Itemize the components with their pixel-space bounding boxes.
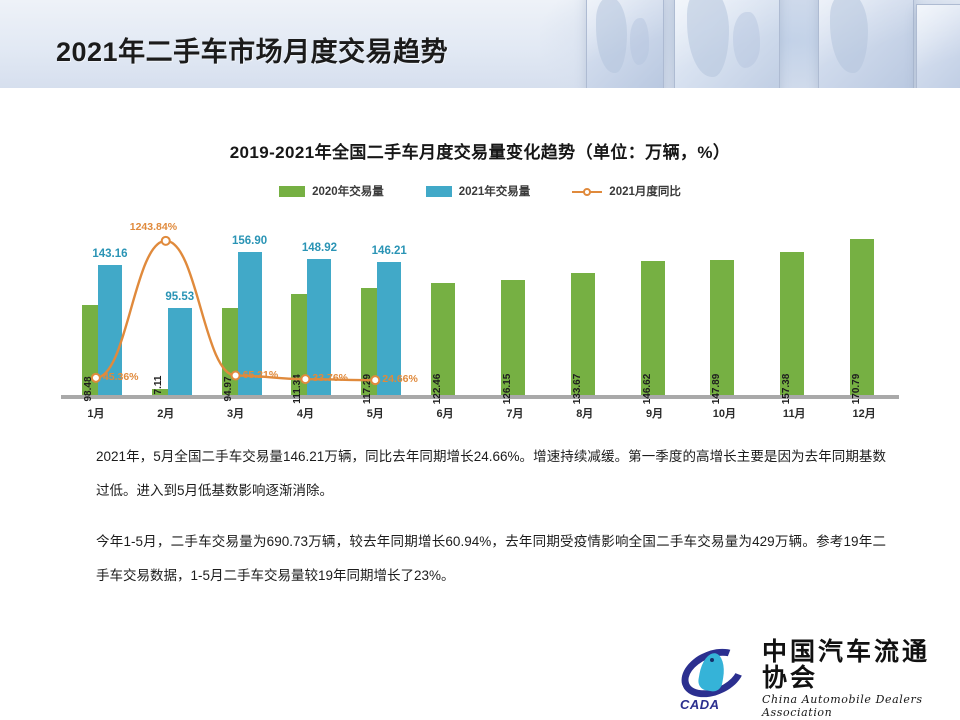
- x-axis-tick-4月: 4月: [297, 405, 314, 421]
- bar-value-label: 7.11: [153, 375, 164, 394]
- bar-value-label: 122.46: [432, 374, 443, 405]
- cube-face: [917, 5, 960, 88]
- legend-label: 2020年交易量: [312, 183, 384, 199]
- chart-baseline-axis: [61, 395, 899, 399]
- legend-item-yoy[interactable]: 2021月度同比: [572, 183, 681, 199]
- bar-value-label: 146.62: [642, 374, 653, 405]
- bar-value-label: 170.79: [851, 374, 862, 405]
- yoy-value-label-5月: 24.66%: [382, 373, 418, 385]
- x-axis-tick-6月: 6月: [437, 405, 454, 421]
- bar-value-label: 94.97: [223, 376, 234, 401]
- yoy-value-label-4月: 33.76%: [312, 372, 348, 384]
- x-axis-tick-11月: 11月: [783, 405, 806, 421]
- bar-2020-8月: 133.67: [571, 273, 595, 395]
- yoy-data-point-2月: [162, 237, 170, 245]
- bar-2020-10月: 147.89: [710, 260, 734, 395]
- x-axis-tick-3月: 3月: [227, 405, 244, 421]
- logo-english-name: China Automobile Dealers Association: [762, 693, 952, 719]
- decorative-cube-4: [916, 4, 960, 88]
- bar-value-label: 117.29: [362, 374, 373, 404]
- page-title: 2021年二手车市场月度交易趋势: [56, 30, 448, 69]
- bar-value-label: 147.89: [711, 374, 722, 405]
- bar-value-label: 143.16: [92, 248, 127, 260]
- yoy-value-label-1月: 45.36%: [103, 371, 139, 383]
- legend-label: 2021年交易量: [459, 183, 531, 199]
- bar-value-label: 133.67: [572, 374, 583, 405]
- legend-label: 2021月度同比: [609, 183, 681, 199]
- bar-2020-6月: 122.46: [431, 283, 455, 395]
- bar-2020-12月: 170.79: [850, 239, 874, 395]
- cube-map-shape-2: [733, 12, 760, 68]
- x-axis-tick-9月: 9月: [646, 405, 663, 421]
- x-axis-tick-5月: 5月: [367, 405, 384, 421]
- chart-legend: 2020年交易量 2021年交易量 2021月度同比: [0, 183, 960, 199]
- bar-value-label: 156.90: [232, 235, 267, 247]
- cada-logo: CADA 中国汽车流通协会 China Automobile Dealers A…: [676, 645, 952, 713]
- chart-plot-area: 98.48143.167.1195.5394.97156.90111.34148…: [61, 213, 899, 399]
- bar-value-label: 95.53: [165, 291, 194, 303]
- paragraph-1: 2021年，5月全国二手车交易量146.21万辆，同比去年同期增长24.66%。…: [96, 440, 886, 509]
- bar-2020-9月: 146.62: [641, 261, 665, 395]
- bar-2020-11月: 157.38: [780, 252, 804, 395]
- yoy-value-label-2月: 1243.84%: [130, 221, 177, 233]
- bar-value-label: 111.34: [292, 374, 303, 403]
- legend-item-2020[interactable]: 2020年交易量: [279, 183, 384, 199]
- bar-value-label: 126.15: [502, 374, 513, 405]
- bar-2020-7月: 126.15: [501, 280, 525, 395]
- legend-item-2021[interactable]: 2021年交易量: [426, 183, 531, 199]
- cube-map-shape-2: [630, 18, 650, 65]
- body-text-block: 2021年，5月全国二手车交易量146.21万辆，同比去年同期增长24.66%。…: [96, 440, 886, 610]
- slide-root: 2021年二手车市场月度交易趋势 2019-2021年全国二手车月度交易量变化趋…: [0, 0, 960, 720]
- logo-wordmark: 中国汽车流通协会 China Automobile Dealers Associ…: [762, 639, 952, 720]
- x-axis-tick-7月: 7月: [506, 405, 523, 421]
- legend-line-marker-icon: [572, 186, 602, 197]
- decorative-cube-1: [586, 0, 664, 88]
- x-axis-tick-12月: 12月: [852, 405, 875, 421]
- cada-emblem-icon: CADA: [676, 647, 754, 711]
- logo-chinese-name: 中国汽车流通协会: [762, 639, 952, 692]
- chart-x-axis: 1月2月3月4月5月6月7月8月9月10月11月12月: [61, 405, 899, 425]
- x-axis-tick-10月: 10月: [713, 405, 736, 421]
- x-axis-tick-8月: 8月: [576, 405, 593, 421]
- yoy-value-label-3月: 65.21%: [243, 369, 279, 381]
- bar-2021-2月: 95.53: [168, 308, 192, 395]
- bar-value-label: 148.92: [302, 242, 337, 254]
- header-divider: [0, 88, 960, 91]
- logo-abbr: CADA: [680, 697, 720, 712]
- paragraph-2: 今年1-5月，二手车交易量为690.73万辆，较去年同期增长60.94%，去年同…: [96, 525, 886, 594]
- chart-container: 2019-2021年全国二手车月度交易量变化趋势（单位：万辆，%） 2020年交…: [0, 96, 960, 416]
- chart-title: 2019-2021年全国二手车月度交易量变化趋势（单位：万辆，%）: [0, 96, 960, 163]
- legend-swatch-icon: [279, 186, 305, 197]
- x-axis-tick-1月: 1月: [87, 405, 104, 421]
- bar-value-label: 146.21: [372, 245, 407, 257]
- bar-value-label: 157.38: [781, 374, 792, 405]
- legend-swatch-icon: [426, 186, 452, 197]
- decorative-cube-2: [674, 0, 780, 88]
- fish-eye-icon: [710, 658, 714, 662]
- header-banner: 2021年二手车市场月度交易趋势: [0, 0, 960, 88]
- bar-value-label: 98.48: [83, 376, 94, 401]
- x-axis-tick-2月: 2月: [157, 405, 174, 421]
- decorative-cube-3: [818, 0, 914, 88]
